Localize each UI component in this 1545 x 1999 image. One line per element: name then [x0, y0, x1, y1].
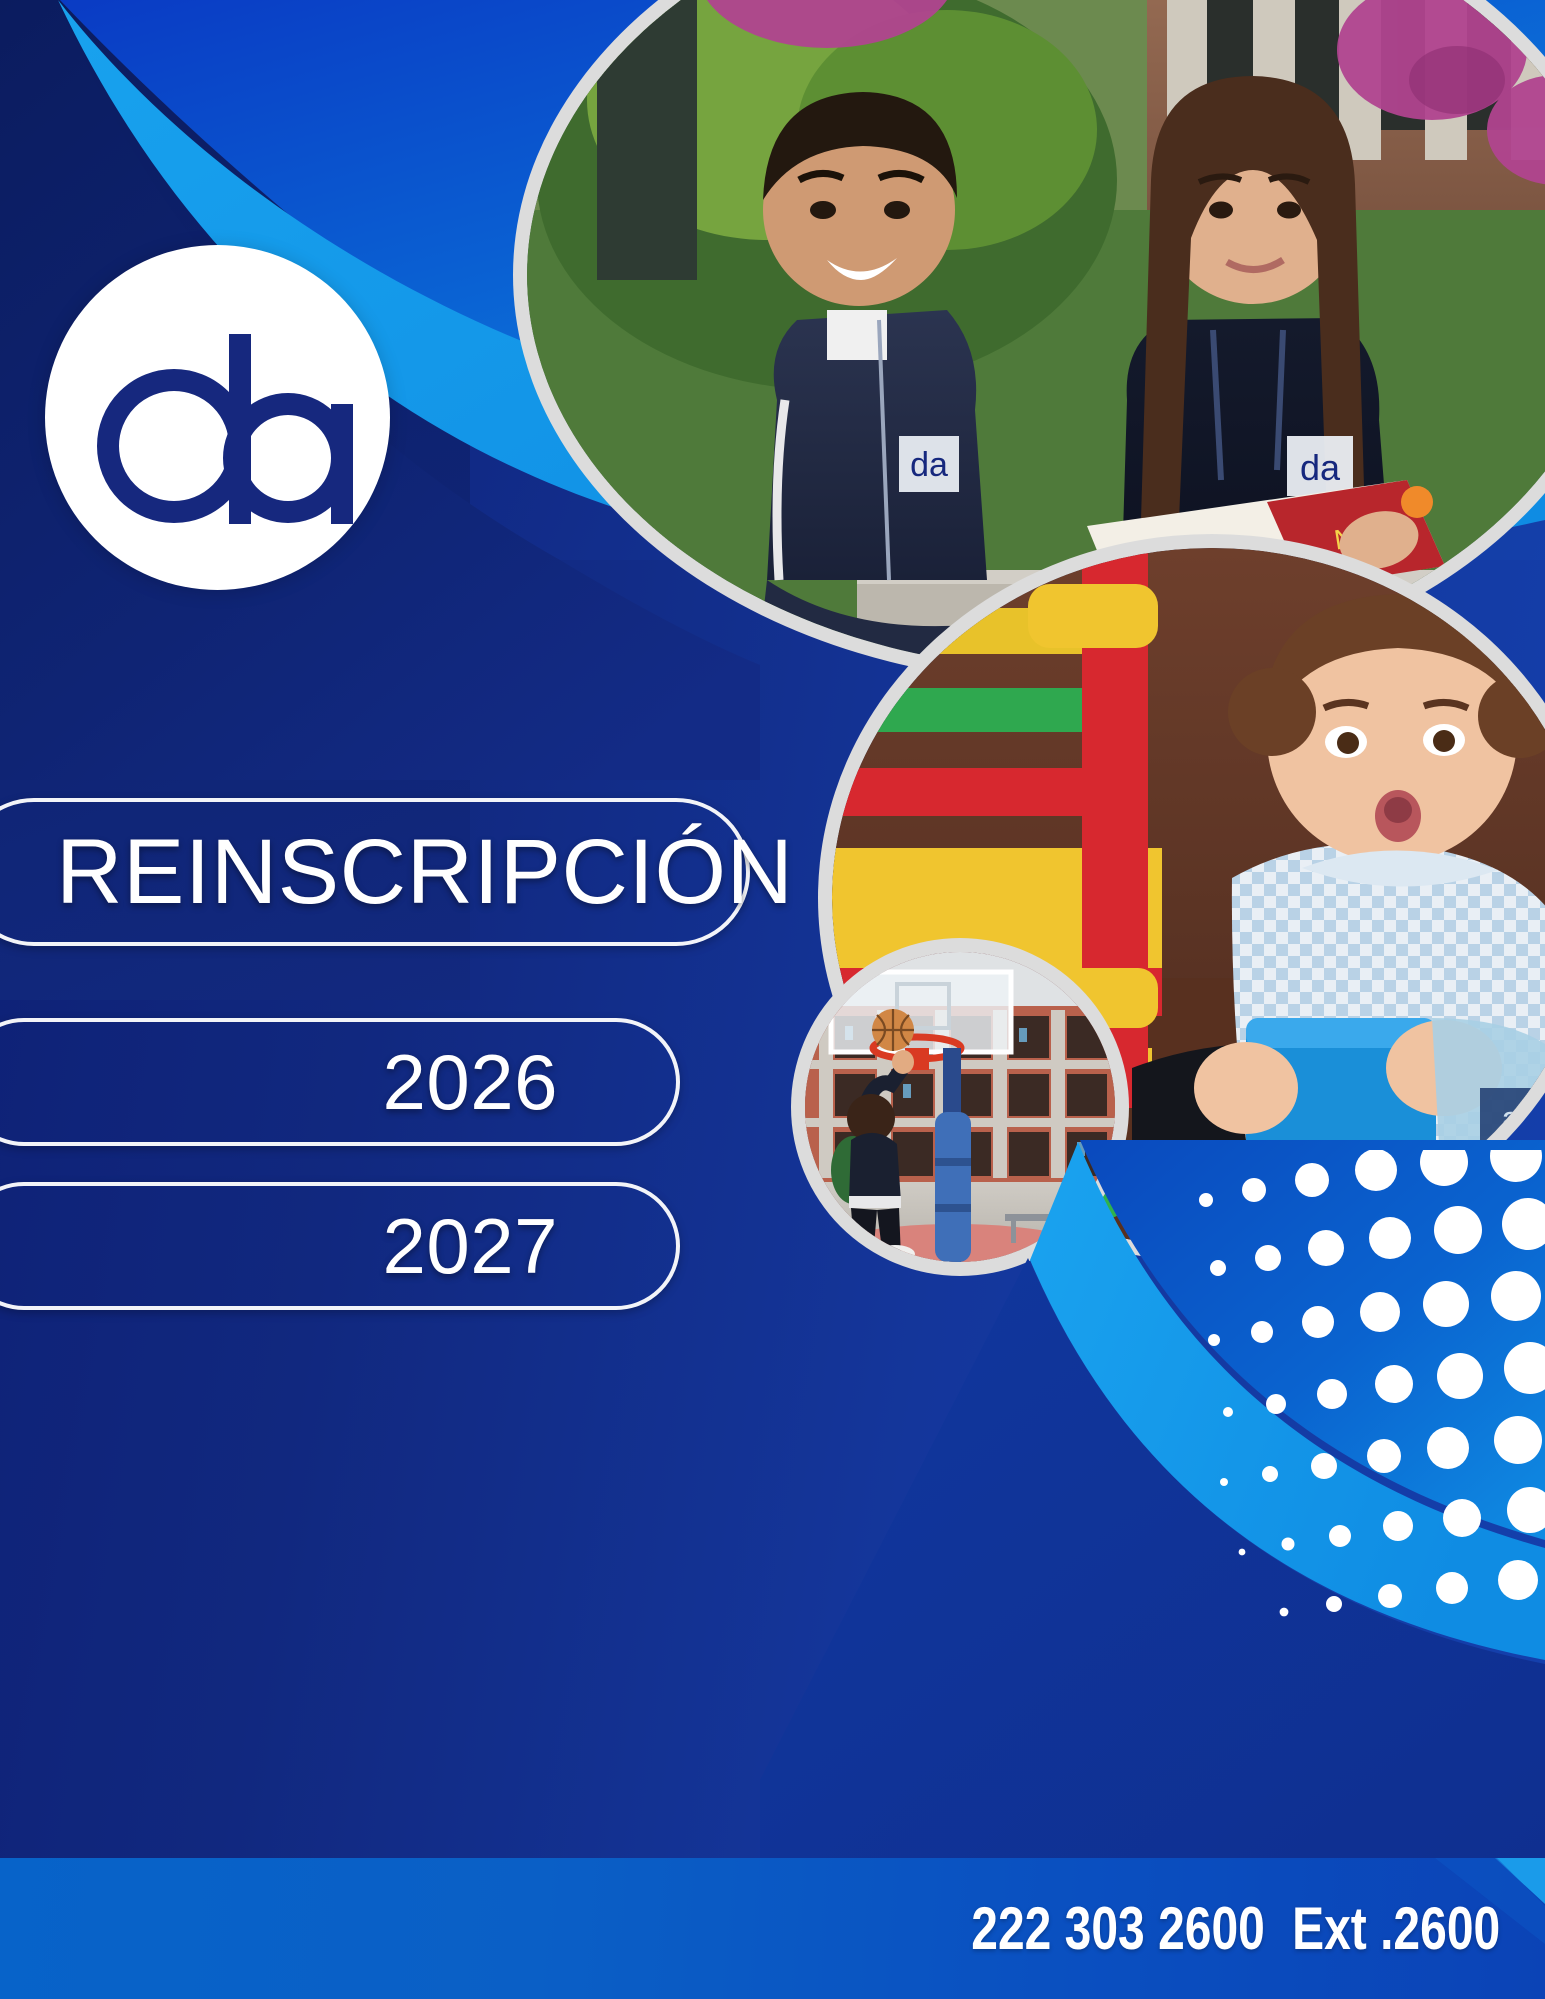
contact-footer: 222 303 2600Ext .2600 [0, 1858, 1545, 1999]
phone-extension: Ext .2600 [1292, 1895, 1500, 1962]
svg-text:da: da [1300, 447, 1341, 488]
photo-student-basketball-shot [805, 952, 1115, 1262]
year-from-pill: 2026 [0, 1018, 680, 1146]
year-from-label: 2026 [382, 1037, 558, 1128]
year-to-label: 2027 [382, 1201, 558, 1292]
title-pill: REINSCRIPCIÓN [0, 798, 750, 946]
da-monogram-logo [68, 268, 368, 568]
svg-text:da: da [910, 446, 948, 484]
logo-badge [45, 245, 390, 590]
reinscripcion-poster: da [0, 0, 1545, 1999]
year-to-pill: 2027 [0, 1182, 680, 1310]
page-title: REINSCRIPCIÓN [56, 820, 793, 925]
phone-number: 222 303 2600 [971, 1895, 1265, 1962]
contact-phone-line: 222 303 2600Ext .2600 [971, 1894, 1500, 1963]
